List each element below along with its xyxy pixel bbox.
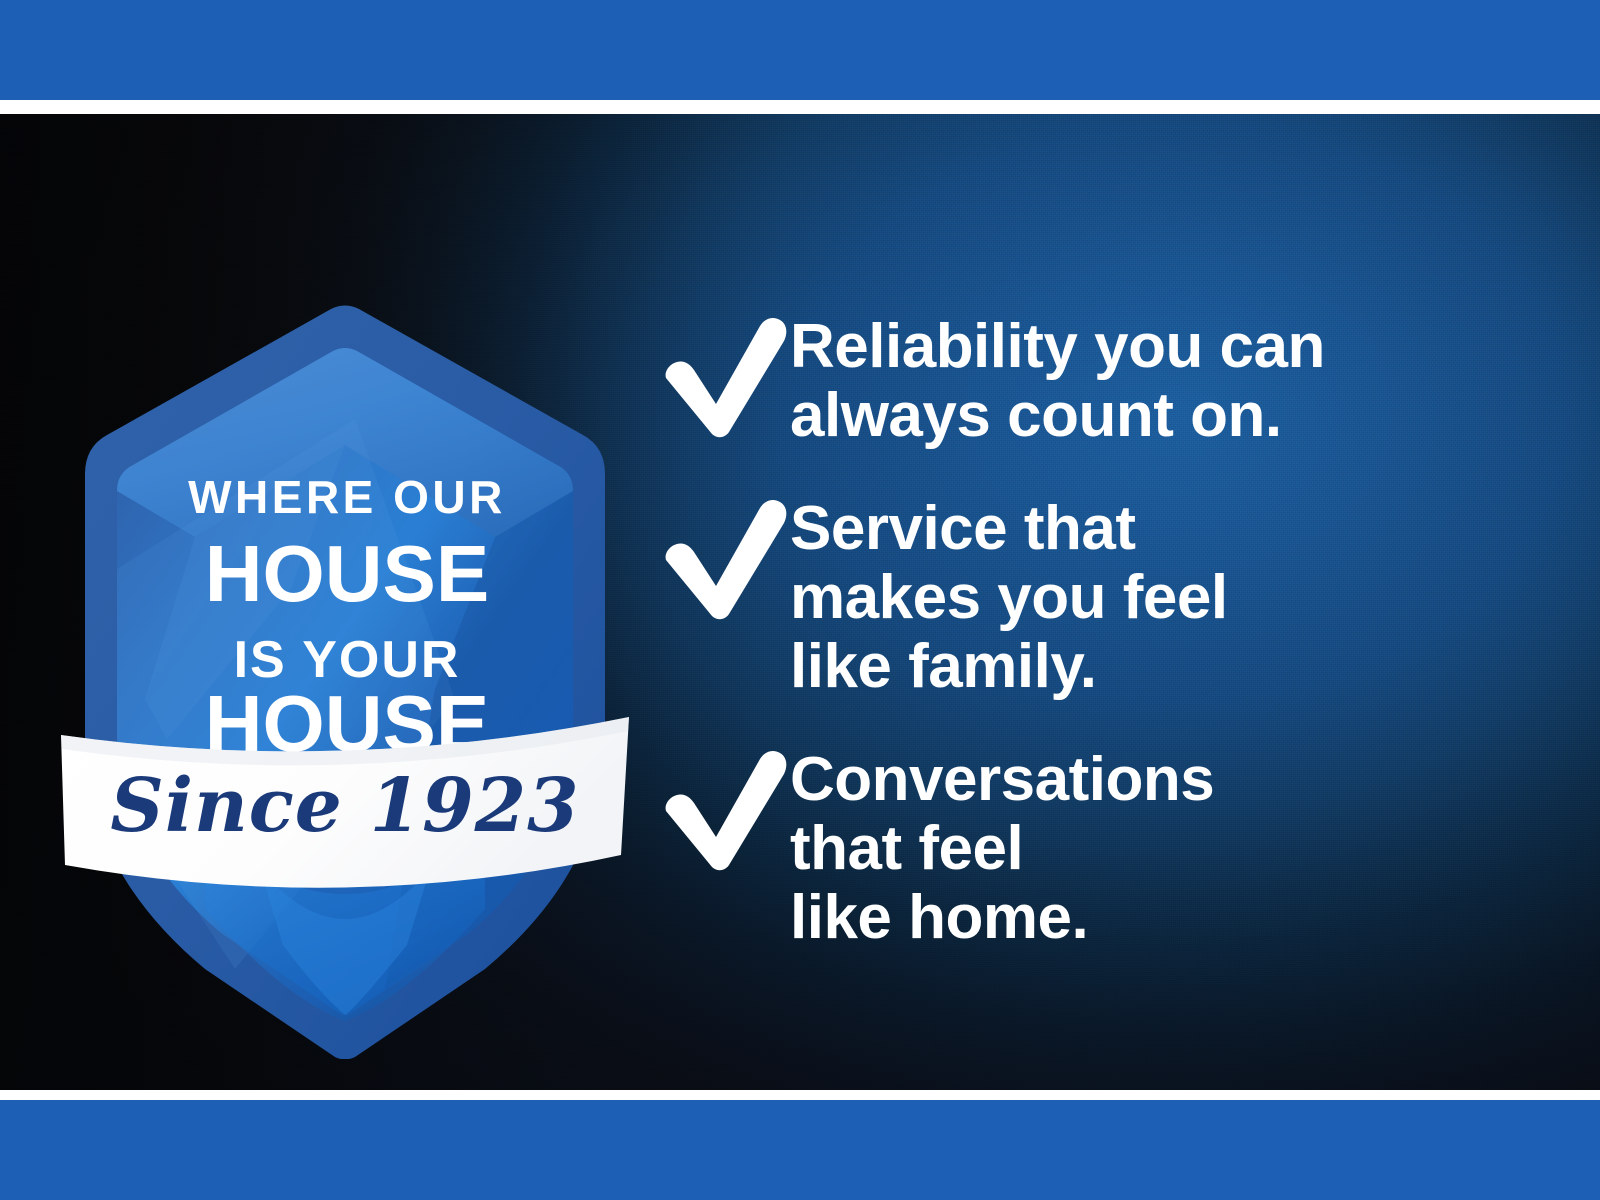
top-white-separator	[0, 100, 1600, 114]
checkmark-icon	[660, 316, 790, 440]
shield-logo: WHERE OUR HOUSE IS YOUR HOUSE Since 1923	[55, 269, 635, 1059]
shield-line-1: WHERE OUR	[188, 471, 506, 523]
bottom-white-separator	[0, 1090, 1600, 1100]
benefit-item-2: Service that makes you feel like family.	[660, 492, 1540, 701]
benefit-item-3: Conversations that feel like home.	[660, 743, 1540, 952]
benefit-text-2: Service that makes you feel like family.	[790, 492, 1540, 701]
benefit-text-3: Conversations that feel like home.	[790, 743, 1540, 952]
bottom-blue-bar	[0, 1100, 1600, 1200]
checkmark-icon	[660, 498, 790, 622]
shield-line-2: HOUSE	[205, 529, 490, 618]
banner-since-text: Since 1923	[110, 763, 579, 849]
promo-graphic: WHERE OUR HOUSE IS YOUR HOUSE Since 1923	[0, 0, 1600, 1200]
benefits-list: Reliability you can always count on. Ser…	[660, 310, 1540, 952]
checkmark-icon	[660, 749, 790, 873]
benefit-item-1: Reliability you can always count on.	[660, 310, 1540, 450]
main-panel: WHERE OUR HOUSE IS YOUR HOUSE Since 1923	[0, 114, 1600, 1090]
benefit-text-1: Reliability you can always count on.	[790, 310, 1540, 450]
top-blue-bar	[0, 0, 1600, 100]
